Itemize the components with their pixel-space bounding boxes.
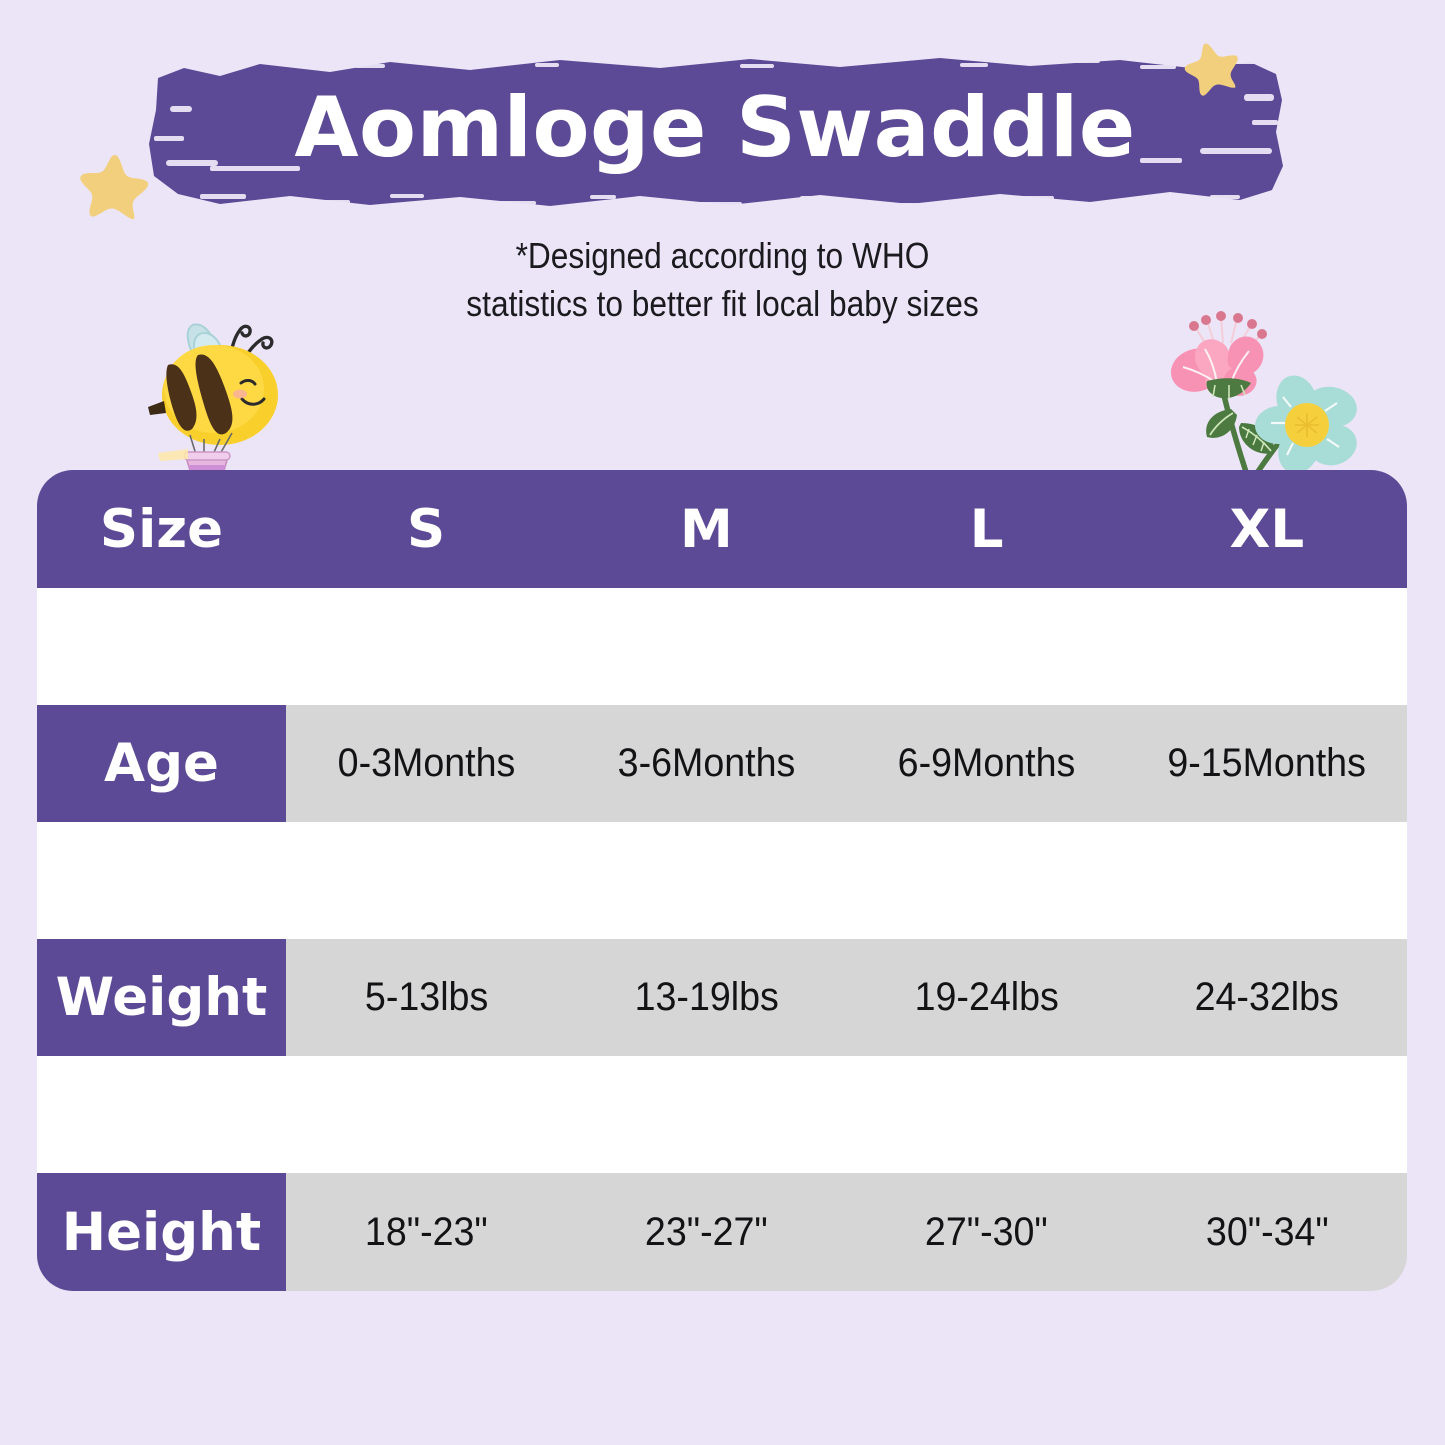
height-value-m: 23"-27" <box>566 1173 846 1291</box>
size-chart-table: Size S M L XL Age 0-3Months 3-6Months 6-… <box>37 470 1407 1290</box>
table-row-age: Age 0-3Months 3-6Months 6-9Months 9-15Mo… <box>37 705 1407 822</box>
table-row-height: Height 18"-23" 23"-27" 27"-30" 30"-34" <box>37 1173 1407 1291</box>
row-label-weight: Weight <box>37 939 286 1056</box>
table-spacer-row <box>37 1056 1407 1173</box>
weight-value-m: 13-19lbs <box>566 939 846 1056</box>
bee-illustration <box>138 307 298 485</box>
age-value-m: 3-6Months <box>566 705 846 822</box>
age-value-xl: 9-15Months <box>1127 705 1407 822</box>
weight-value-xl: 24-32lbs <box>1127 939 1407 1056</box>
height-value-xl: 30"-34" <box>1127 1173 1407 1291</box>
table-spacer-row <box>37 588 1407 705</box>
title-banner: Aomloge Swaddle <box>140 48 1290 213</box>
row-label-age: Age <box>37 705 286 822</box>
table-row-weight: Weight 5-13lbs 13-19lbs 19-24lbs 24-32lb… <box>37 939 1407 1056</box>
subtitle-line-1: *Designed according to WHO <box>87 232 1359 280</box>
pink-flower <box>1171 336 1263 399</box>
height-value-s: 18"-23" <box>286 1173 566 1291</box>
age-value-l: 6-9Months <box>847 705 1127 822</box>
table-spacer-row <box>37 822 1407 939</box>
row-label-height: Height <box>37 1173 286 1291</box>
weight-value-s: 5-13lbs <box>286 939 566 1056</box>
table-header-row: Size S M L XL <box>37 470 1407 588</box>
header-size-l: L <box>847 470 1127 588</box>
teal-flower <box>1254 370 1360 480</box>
size-chart-page: Aomloge Swaddle *Designed according to W… <box>0 0 1445 1445</box>
weight-value-l: 19-24lbs <box>847 939 1127 1056</box>
age-value-s: 0-3Months <box>286 705 566 822</box>
star-icon <box>80 152 150 220</box>
header-size-m: M <box>566 470 846 588</box>
height-value-l: 27"-30" <box>847 1173 1127 1291</box>
header-label-size: Size <box>37 470 286 588</box>
flowers-illustration <box>1145 305 1360 483</box>
header-size-s: S <box>286 470 566 588</box>
header-size-xl: XL <box>1127 470 1407 588</box>
page-title: Aomloge Swaddle <box>140 48 1290 213</box>
